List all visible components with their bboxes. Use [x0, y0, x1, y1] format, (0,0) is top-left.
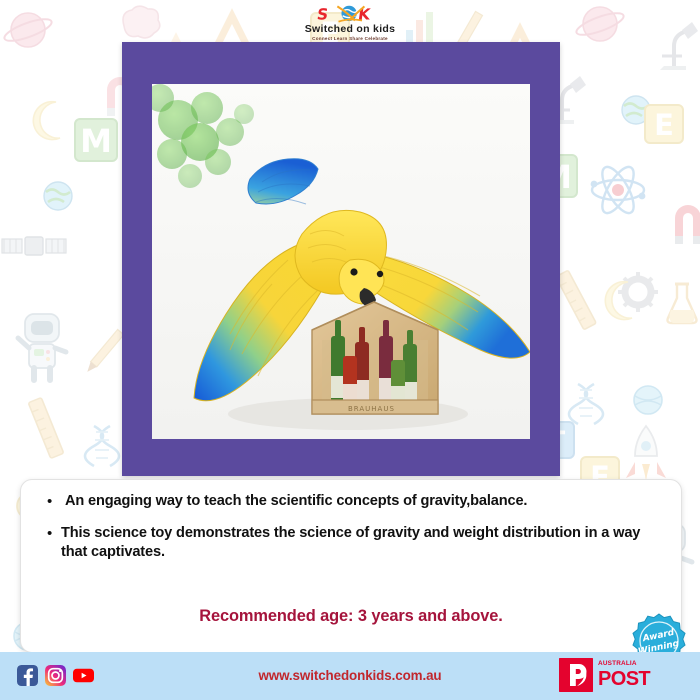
bird-eye-right: [377, 271, 383, 277]
partner-line-1: AUSTRALIA: [598, 661, 650, 667]
bullet-text: This science toy demonstrates the scienc…: [61, 524, 667, 562]
feature-card: • An engaging way to teach the scientifi…: [20, 479, 682, 653]
australia-post-mark-icon: [559, 658, 593, 692]
australia-post-logo: AUSTRALIA POST: [559, 658, 650, 692]
bullet-text: An engaging way to teach the scientific …: [61, 492, 527, 511]
svg-text:BRAUHAUS: BRAUHAUS: [348, 405, 395, 413]
australia-post-wordmark: AUSTRALIA POST: [598, 661, 650, 688]
feature-bullet-list: • An engaging way to teach the scientifi…: [47, 492, 667, 575]
product-photo-frame: BRAUHAUS: [122, 42, 560, 476]
brand-logo: S K Switched on kids Connect Learn Share…: [0, 4, 700, 44]
product-photo: BRAUHAUS: [152, 84, 530, 439]
svg-text:S: S: [316, 5, 330, 23]
bullet-icon: •: [47, 524, 61, 543]
brand-tagline: Connect Learn Share Celebrate: [312, 36, 388, 41]
brand-name: Switched on kids: [305, 23, 396, 35]
recommended-age-text: Recommended age: 3 years and above.: [21, 607, 681, 626]
bullet-icon: •: [47, 492, 61, 511]
list-item: • This science toy demonstrates the scie…: [47, 524, 667, 562]
sok-globe-logo-icon: S K: [315, 4, 386, 24]
list-item: • An engaging way to teach the scientifi…: [47, 492, 667, 511]
promo-graphic: M E T: [0, 0, 700, 700]
bird-eye-left: [350, 268, 357, 275]
partner-line-2: POST: [598, 669, 650, 689]
